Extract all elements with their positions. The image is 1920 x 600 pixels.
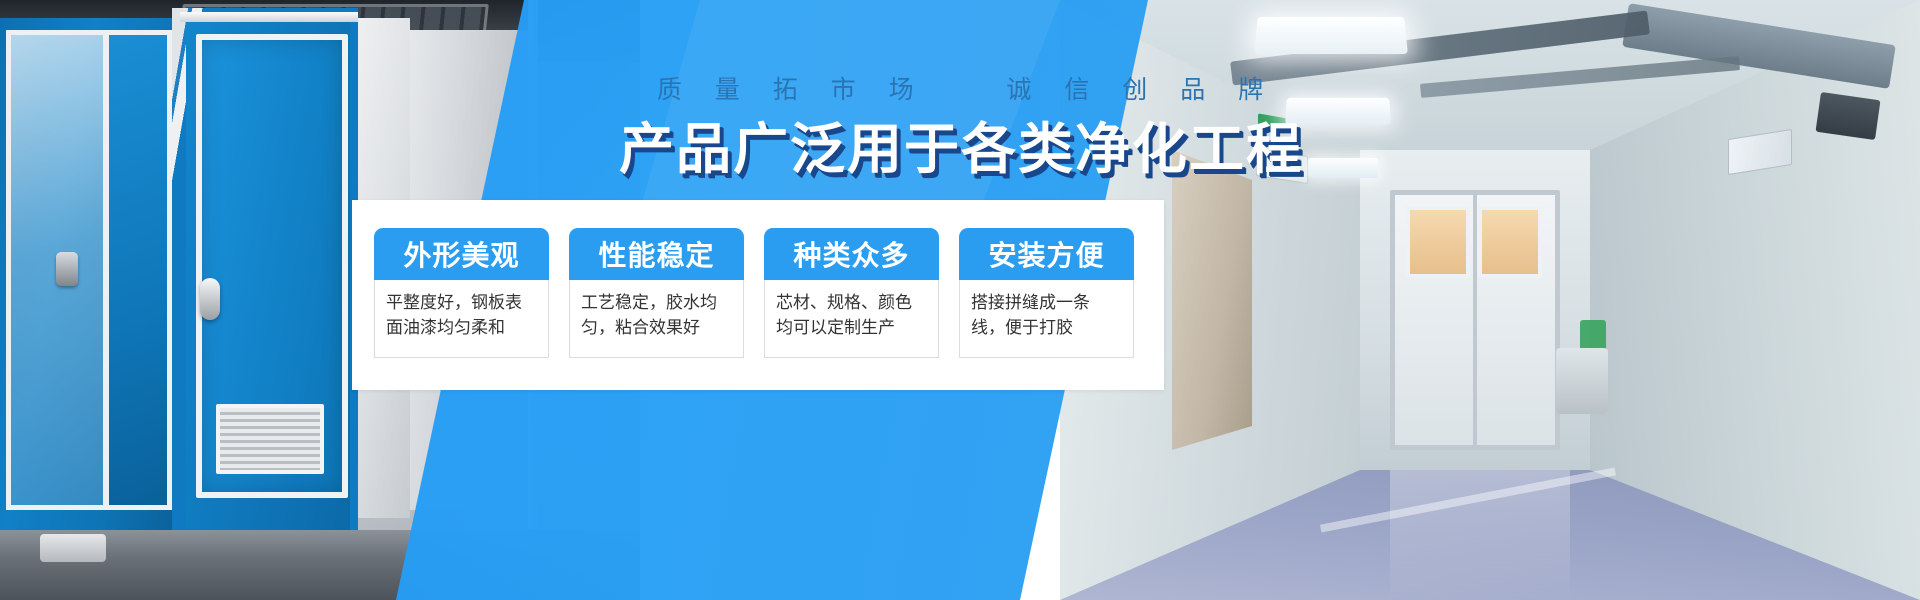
feature-card-title: 性能稳定 xyxy=(569,228,744,280)
feature-card[interactable]: 外形美观 平整度好，钢板表面油漆均匀柔和 xyxy=(374,228,549,358)
feature-card-text: 芯材、规格、颜色均可以定制生产 xyxy=(764,280,939,358)
left-photo-door-handle xyxy=(200,278,220,320)
promo-banner: 质 量 拓 市 场 诚 信 创 品 牌 产品广泛用于各类净化工程 外形美观 平整… xyxy=(0,0,1920,600)
left-photo-door-lock xyxy=(56,252,78,286)
right-photo-door-window-right xyxy=(1478,206,1542,278)
banner-subtitle: 质 量 拓 市 场 诚 信 创 品 牌 xyxy=(0,76,1920,104)
right-photo-side-door xyxy=(1172,150,1252,450)
left-photo-cabin-foot xyxy=(40,534,106,562)
feature-card-text: 搭接拼缝成一条线，便于打胶 xyxy=(959,280,1134,358)
left-photo-door-vent xyxy=(216,404,324,474)
feature-card-list: 外形美观 平整度好，钢板表面油漆均匀柔和 性能稳定 工艺稳定，胶水均匀，粘合效果… xyxy=(352,200,1164,390)
feature-card[interactable]: 性能稳定 工艺稳定，胶水均匀，粘合效果好 xyxy=(569,228,744,358)
feature-card-title: 种类众多 xyxy=(764,228,939,280)
feature-card-title: 外形美观 xyxy=(374,228,549,280)
feature-card-text: 工艺稳定，胶水均匀，粘合效果好 xyxy=(569,280,744,358)
right-photo-door-window-left xyxy=(1406,206,1470,278)
right-photo-cart xyxy=(1556,348,1608,414)
feature-card[interactable]: 安装方便 搭接拼缝成一条线，便于打胶 xyxy=(959,228,1134,358)
feature-card-text: 平整度好，钢板表面油漆均匀柔和 xyxy=(374,280,549,358)
right-photo-ceiling-light-1 xyxy=(1254,17,1408,54)
feature-card-title: 安装方便 xyxy=(959,228,1134,280)
left-photo-cabin-two-frame xyxy=(180,12,358,22)
feature-card-panel: 外形美观 平整度好，钢板表面油漆均匀柔和 性能稳定 工艺稳定，胶水均匀，粘合效果… xyxy=(352,200,1164,390)
feature-card[interactable]: 种类众多 芯材、规格、颜色均可以定制生产 xyxy=(764,228,939,358)
banner-headline: 产品广泛用于各类净化工程 xyxy=(0,118,1920,180)
